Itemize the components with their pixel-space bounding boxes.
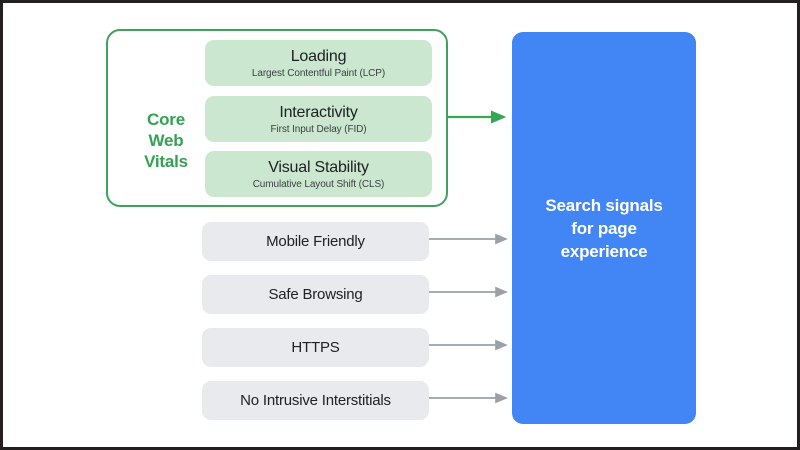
feature-pill-https[interactable]: HTTPS [202, 328, 429, 367]
diagram-frame: Core Web Vitals Loading Largest Contentf… [0, 0, 800, 450]
vital-card-subtitle: Largest Contentful Paint (LCP) [252, 67, 385, 80]
feature-pill-mobile-friendly[interactable]: Mobile Friendly [202, 222, 429, 261]
search-signals-panel-label: Search signals for page experience [529, 194, 679, 263]
vital-card-title: Interactivity [279, 103, 357, 122]
vital-card-loading[interactable]: Loading Largest Contentful Paint (LCP) [205, 40, 432, 86]
vital-card-interactivity[interactable]: Interactivity First Input Delay (FID) [205, 96, 432, 142]
feature-pill-label: No Intrusive Interstitials [240, 392, 391, 409]
search-signals-panel[interactable]: Search signals for page experience [512, 32, 696, 424]
vital-card-title: Visual Stability [268, 158, 369, 177]
vital-card-title: Loading [291, 47, 347, 66]
vital-card-visual-stability[interactable]: Visual Stability Cumulative Layout Shift… [205, 151, 432, 197]
vital-card-subtitle: First Input Delay (FID) [270, 123, 366, 136]
feature-pill-label: Safe Browsing [268, 286, 362, 303]
core-web-vitals-label: Core Web Vitals [125, 109, 207, 172]
core-web-vitals-group: Core Web Vitals Loading Largest Contentf… [106, 29, 448, 207]
feature-pill-safe-browsing[interactable]: Safe Browsing [202, 275, 429, 314]
feature-pill-label: Mobile Friendly [266, 233, 365, 250]
diagram-canvas: Core Web Vitals Loading Largest Contentf… [3, 3, 797, 447]
feature-pill-label: HTTPS [291, 339, 339, 356]
feature-pill-no-intrusive-interstitials[interactable]: No Intrusive Interstitials [202, 381, 429, 420]
vital-card-subtitle: Cumulative Layout Shift (CLS) [253, 178, 385, 191]
